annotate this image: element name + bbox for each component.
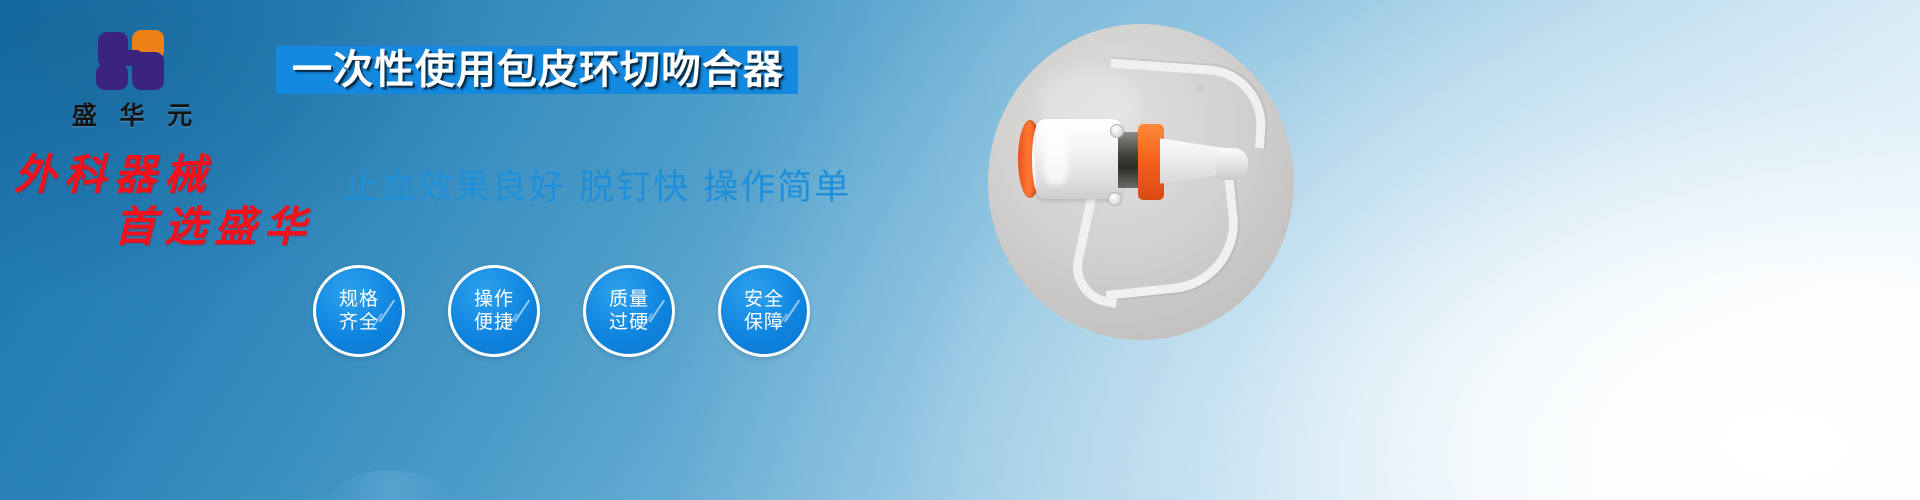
feature-badge-line1: 质量 [609,288,649,311]
feature-badge-line1: 操作 [474,288,514,311]
feature-badge-quality[interactable]: 质量 过硬 [583,265,675,357]
title-bar: 一次性使用包皮环切吻合器 [276,46,798,94]
feature-badge-line2: 保障 [744,311,784,334]
slogan-line-2: 首选盛华 [114,204,344,250]
feature-badge-line2: 便捷 [474,311,514,334]
stapler-pivot-upper [1110,124,1124,138]
company-logo-icon [96,30,168,90]
page-title: 一次性使用包皮环切吻合器 [292,48,784,92]
stapler-screw [1196,84,1205,93]
brand-logo-block[interactable]: 盛 华 元 [52,30,212,132]
feature-badge-line1: 安全 [744,288,784,311]
feature-badge-line2: 过硬 [609,311,649,334]
feature-badge-operation[interactable]: 操作 便捷 [448,265,540,357]
feature-badge-line2: 齐全 [339,311,379,334]
brand-name: 盛 华 元 [52,96,212,132]
stapler-pivot-lower [1108,192,1122,206]
feature-badge-specifications[interactable]: 规格 齐全 [313,265,405,357]
logo-square-bottom [96,64,128,90]
feature-badge-safety[interactable]: 安全 保障 [718,265,810,357]
calligraphy-slogan: 外科器械 首选盛华 [14,152,344,250]
logo-square-center [120,50,142,66]
stapler-illustration [988,24,1294,340]
stapler-metal-collar [1118,132,1140,188]
subtitle: 止血效果良好 脱钉快 操作简单 [344,168,851,208]
feature-badge-line1: 规格 [339,288,379,311]
promo-banner: 盛 华 元 外科器械 首选盛华 一次性使用包皮环切吻合器 止血效果良好 脱钉快 … [0,0,1920,500]
stapler-tip [1216,148,1248,180]
slogan-line-1: 外科器械 [14,152,344,198]
feature-badge-list: 规格 齐全 操作 便捷 质量 过硬 安全 保障 [313,265,810,357]
product-image [988,24,1294,340]
decorative-glow [330,470,450,500]
